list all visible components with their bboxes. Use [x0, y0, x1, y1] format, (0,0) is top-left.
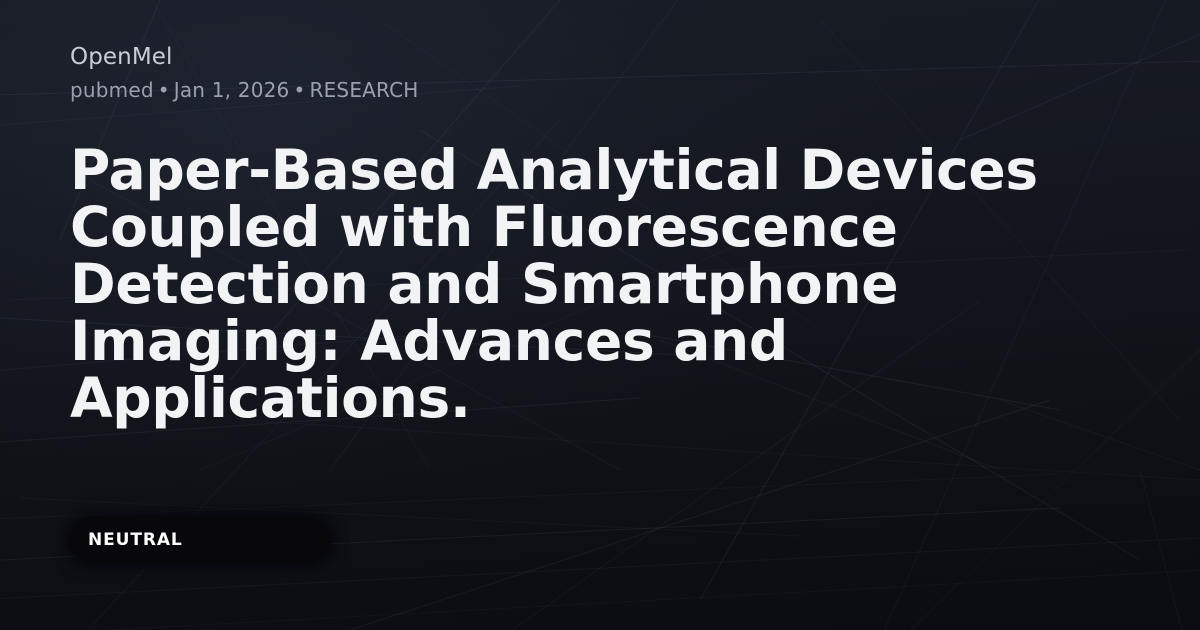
badge-row: NEUTRAL: [70, 517, 330, 563]
meta-separator-2: •: [289, 78, 309, 102]
meta-category: RESEARCH: [309, 78, 418, 102]
social-share-card: OpenMel pubmed•Jan 1, 2026•RESEARCH Pape…: [0, 0, 1200, 630]
page-title: Paper-Based Analytical Devices Coupled w…: [70, 142, 1130, 427]
meta-line: pubmed•Jan 1, 2026•RESEARCH: [70, 77, 1130, 103]
status-badge-label: NEUTRAL: [88, 530, 183, 550]
status-badge[interactable]: NEUTRAL: [70, 517, 330, 563]
meta-source: pubmed: [70, 78, 154, 102]
brand-name: OpenMel: [70, 42, 1130, 72]
meta-separator-1: •: [154, 78, 174, 102]
meta-date: Jan 1, 2026: [174, 78, 290, 102]
